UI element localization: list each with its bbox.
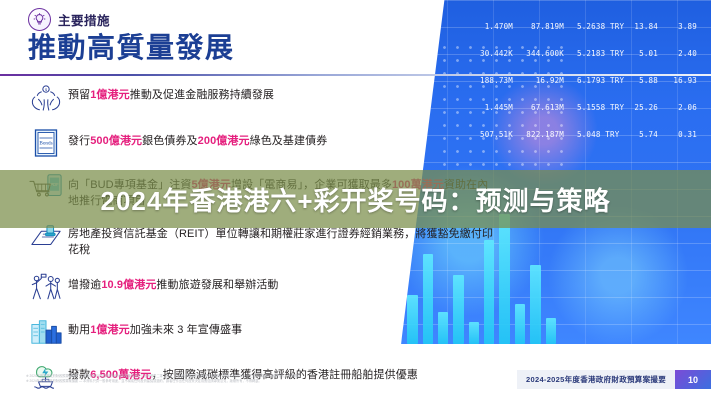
amount-highlight: 500億港元	[90, 135, 142, 147]
footer-document-label: 2024-2025年度香港政府財政預算案撮要	[517, 370, 675, 389]
measure-text-segment: 加強未來 3 年宣傳盛事	[130, 324, 242, 336]
market-ticker-row: 1.445M67.613M5.1558 TRY25.262.06	[479, 103, 697, 112]
amount-highlight: 10.9億港元	[101, 279, 156, 291]
footer-bar: 2024-2025年度香港政府財政預算案撮要 10	[517, 370, 711, 389]
tourists-icon	[24, 270, 68, 304]
city-buildings-icon	[24, 315, 68, 349]
measure-text-segment: 發行	[68, 135, 90, 147]
measure-item: 動用1億港元加強未來 3 年宣傳盛事	[24, 315, 494, 349]
market-ticker-cell: 25.26	[632, 103, 658, 112]
measure-text-segment: 推動及促進金融服務持續發展	[130, 89, 274, 101]
measure-item-text: 動用1億港元加強未來 3 年宣傳盛事	[68, 315, 242, 338]
overlay-banner-text: 2024年香港港六+彩开奖号码：预测与策略	[100, 181, 610, 218]
measure-item: 增撥逾10.9億港元推動旅遊發展和舉辦活動	[24, 270, 494, 304]
measures-list: $ 預留1億港元推動及促進金融服務持續發展 Bonds 發行500億港元銀色債券…	[24, 80, 494, 400]
svg-text:$: $	[45, 88, 48, 92]
market-ticker-cell: 5.1558 TRY	[577, 103, 619, 112]
market-ticker-cell: 16.93	[671, 76, 697, 85]
measure-text-segment: 預留	[68, 89, 90, 101]
market-ticker-cell: 0.31	[671, 130, 697, 139]
header-divider	[0, 74, 711, 76]
measure-text-segment: 房地產投資信託基金（REIT）單位轉讓和期權莊家進行證券經銷業務，將獲豁免繳付印…	[68, 228, 493, 256]
market-ticker-cell: 5.74	[632, 130, 658, 139]
market-ticker-cell: 87.819M	[526, 22, 564, 31]
overlay-banner: 2024年香港港六+彩开奖号码：预测与策略	[0, 170, 711, 228]
section-badge: 主要措施	[28, 9, 110, 30]
measure-text-segment: 推動旅遊發展和舉辦活動	[156, 279, 278, 291]
svg-text:Bonds: Bonds	[39, 141, 52, 147]
market-ticker-cell: 1.470M	[479, 22, 513, 31]
amount-highlight: 1億港元	[90, 89, 130, 101]
amount-highlight: 1億港元	[90, 324, 130, 336]
page-number-badge: 10	[675, 370, 711, 389]
market-ticker-cell: 5.88	[632, 76, 658, 85]
market-ticker-cell: 5.048 TRY	[577, 130, 619, 139]
bonds-document-icon: Bonds	[24, 126, 68, 160]
measure-item: $ 預留1億港元推動及促進金融服務持續發展	[24, 80, 494, 114]
market-ticker-row: 507.51K822.187M5.048 TRY5.740.31	[479, 130, 697, 139]
market-ticker-row: 188.73M16.92M6.1793 TRY5.8816.93	[479, 76, 697, 85]
market-ticker-cell: 2.40	[671, 49, 697, 58]
page-title: 推動高質量發展	[28, 34, 235, 62]
measure-text-segment: 動用	[68, 324, 90, 336]
market-ticker-cell: 2.06	[671, 103, 697, 112]
market-ticker-cell: 822.187M	[526, 130, 564, 139]
market-ticker-row: 1.470M87.819M5.2638 TRY13.843.89	[479, 22, 697, 31]
measure-item-text: 預留1億港元推動及促進金融服務持續發展	[68, 80, 274, 103]
footer-disclaimer: ※ 2024年度香港政府財政預算案撮要 — 香港特別行政區政府財政司司長陳茂波於…	[26, 374, 426, 385]
measure-item-text: 發行500億港元銀色債券及200億港元綠色及基建債券	[68, 126, 327, 149]
lightbulb-icon	[28, 8, 51, 31]
measure-text-segment: 增撥逾	[68, 279, 101, 291]
market-ticker-cell: 6.1793 TRY	[577, 76, 619, 85]
measure-item-text: 增撥逾10.9億港元推動旅遊發展和舉辦活動	[68, 270, 279, 293]
market-ticker-cell: 13.84	[632, 22, 658, 31]
amount-highlight: 200億港元	[198, 135, 250, 147]
market-ticker-cell: 16.92M	[526, 76, 564, 85]
market-ticker-cell: 30.442K	[479, 49, 513, 58]
slide-canvas: 1.470M87.819M5.2638 TRY13.843.8930.442K3…	[0, 0, 711, 400]
market-ticker-cell: 344.600K	[526, 49, 564, 58]
market-ticker-cell: 5.2638 TRY	[577, 22, 619, 31]
footer-disclaimer-line-2: ※ 2024年度香港政府財政預算案撮要 — 本資料只供一般參考用途，並不構成任何…	[26, 379, 426, 384]
market-ticker-cell: 3.89	[671, 22, 697, 31]
measure-item: Bonds 發行500億港元銀色債券及200億港元綠色及基建債券	[24, 126, 494, 160]
market-ticker-cell: 5.2183 TRY	[577, 49, 619, 58]
market-ticker-row: 30.442K344.600K5.2183 TRY5.012.40	[479, 49, 697, 58]
section-badge-label: 主要措施	[58, 10, 110, 29]
measure-text-segment: 綠色及基建債券	[250, 135, 328, 147]
market-ticker-cell: 5.01	[632, 49, 658, 58]
measure-text-segment: 銀色債券及	[142, 135, 198, 147]
hands-plant-icon: $	[24, 80, 68, 114]
market-ticker-cell: 67.613M	[526, 103, 564, 112]
